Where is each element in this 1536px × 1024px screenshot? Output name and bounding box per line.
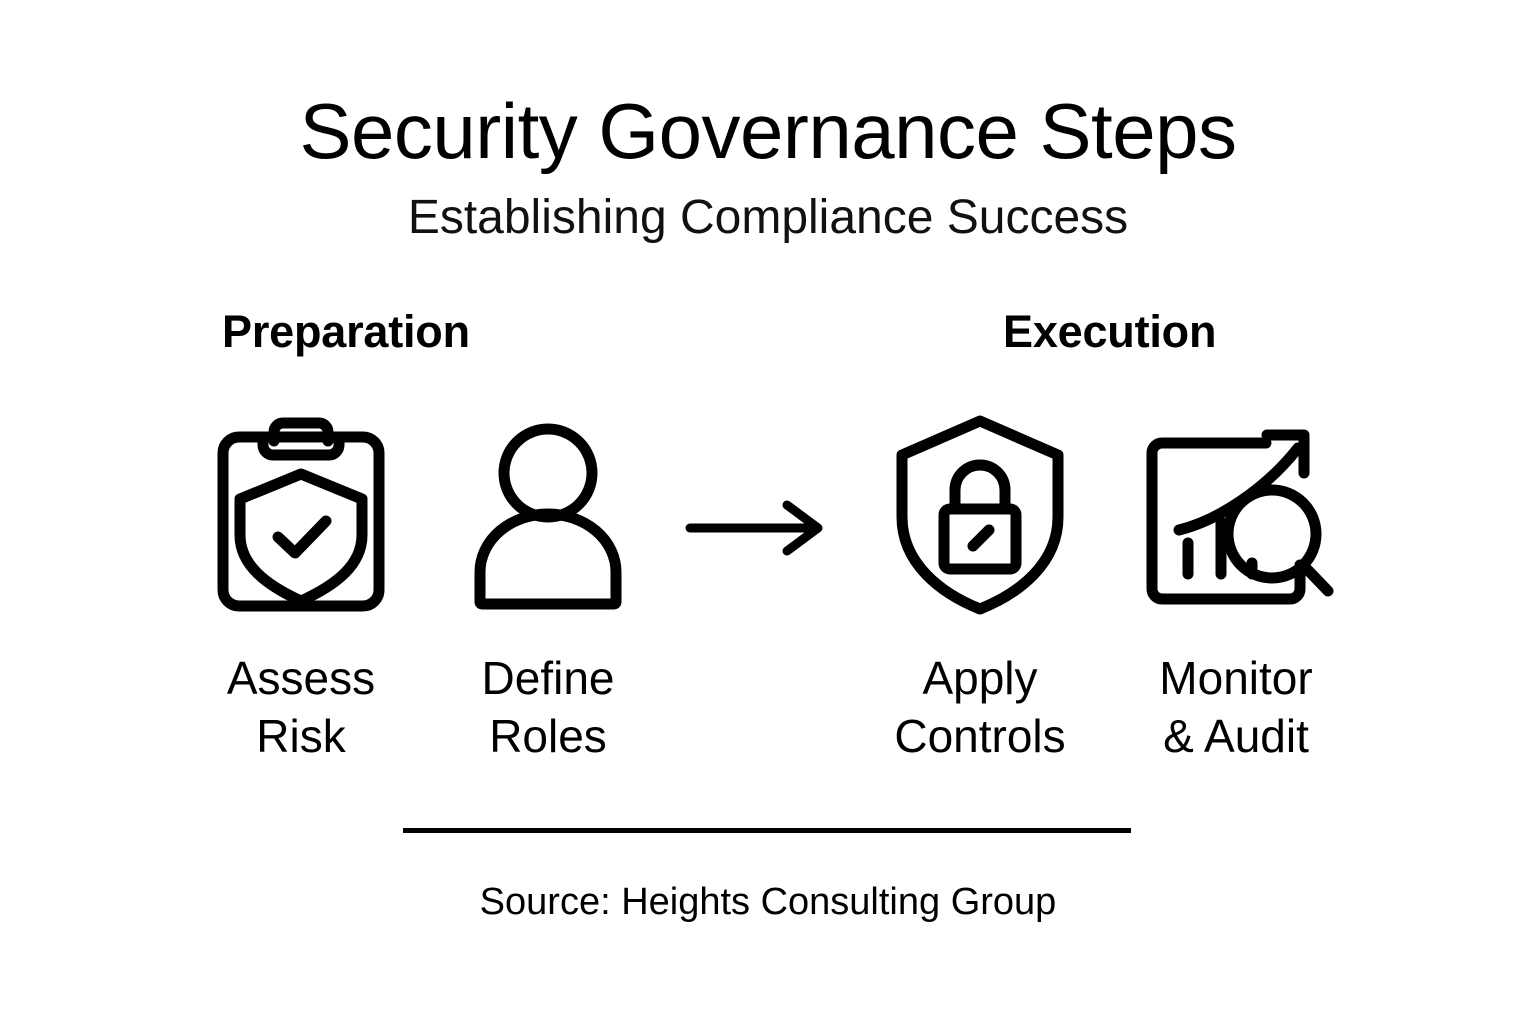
footer-divider — [403, 828, 1131, 833]
page-title: Security Governance Steps — [0, 86, 1536, 176]
clipboard-shield-check-icon — [201, 412, 401, 617]
step-label-assess-risk: Assess Risk — [227, 649, 375, 765]
person-icon — [448, 412, 648, 617]
step-monitor-audit[interactable]: Monitor & Audit — [1131, 412, 1341, 765]
infographic-canvas: Security Governance Steps Establishing C… — [0, 0, 1536, 1024]
step-define-roles[interactable]: Define Roles — [443, 412, 653, 765]
step-label-define-roles: Define Roles — [482, 649, 615, 765]
group-label-execution: Execution — [1003, 306, 1216, 358]
group-label-preparation: Preparation — [222, 306, 470, 358]
source-note: Source: Heights Consulting Group — [0, 878, 1536, 926]
step-label-apply-controls: Apply Controls — [894, 649, 1065, 765]
step-label-monitor-audit: Monitor & Audit — [1159, 649, 1312, 765]
shield-lock-icon — [880, 412, 1080, 617]
step-assess-risk[interactable]: Assess Risk — [196, 412, 406, 765]
chart-magnifier-icon — [1136, 412, 1336, 617]
page-subtitle: Establishing Compliance Success — [0, 189, 1536, 247]
arrow-right-icon — [684, 498, 834, 558]
step-apply-controls[interactable]: Apply Controls — [875, 412, 1085, 765]
